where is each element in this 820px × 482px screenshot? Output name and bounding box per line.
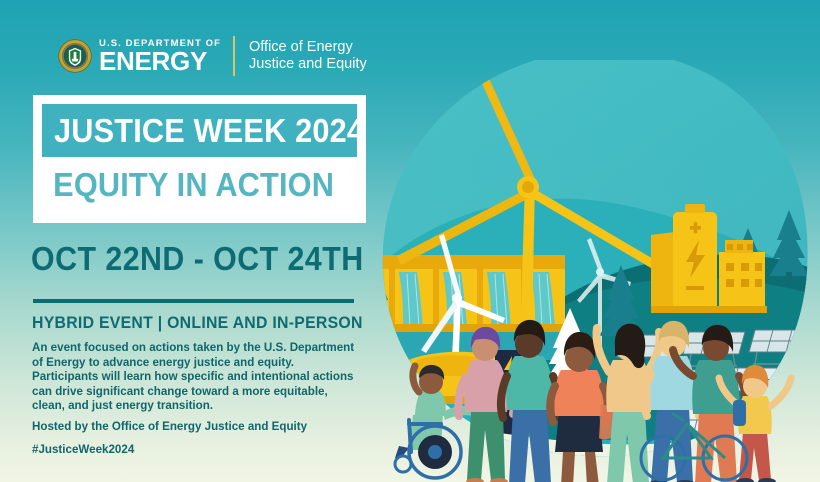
clean-energy-illustration <box>355 60 820 482</box>
energy-wordmark: ENERGY <box>99 49 221 74</box>
event-hashtag: #JusticeWeek2024 <box>32 443 134 456</box>
event-title-line-1: JUSTICE WEEK 2024 <box>54 112 364 150</box>
event-title-line-2: EQUITY IN ACTION <box>42 166 335 204</box>
event-description: An event focused on actions taken by the… <box>32 341 357 414</box>
office-line-1: Office of Energy <box>249 39 367 57</box>
hosted-by-line: Hosted by the Office of Energy Justice a… <box>32 420 307 433</box>
event-title-box: JUSTICE WEEK 2024 EQUITY IN ACTION <box>33 95 366 223</box>
illustration-svg <box>355 60 820 482</box>
justice-week-poster: U.S. DEPARTMENT OF ENERGY Office of Ener… <box>0 0 820 482</box>
event-date-range: OCT 22ND - OCT 24TH <box>31 240 364 278</box>
doe-logo-lockup: U.S. DEPARTMENT OF ENERGY Office of Ener… <box>58 33 367 79</box>
divider-rule <box>33 299 354 303</box>
doe-seal-icon <box>58 39 92 73</box>
doe-wordmark: U.S. DEPARTMENT OF ENERGY <box>99 38 221 74</box>
logo-divider <box>233 36 235 76</box>
hydroelectric-dam <box>375 255 565 332</box>
event-format: HYBRID EVENT | ONLINE AND IN-PERSON <box>32 313 363 333</box>
office-name: Office of Energy Justice and Equity <box>249 39 367 74</box>
event-title-band: JUSTICE WEEK 2024 <box>42 104 357 157</box>
office-line-2: Justice and Equity <box>249 56 367 74</box>
